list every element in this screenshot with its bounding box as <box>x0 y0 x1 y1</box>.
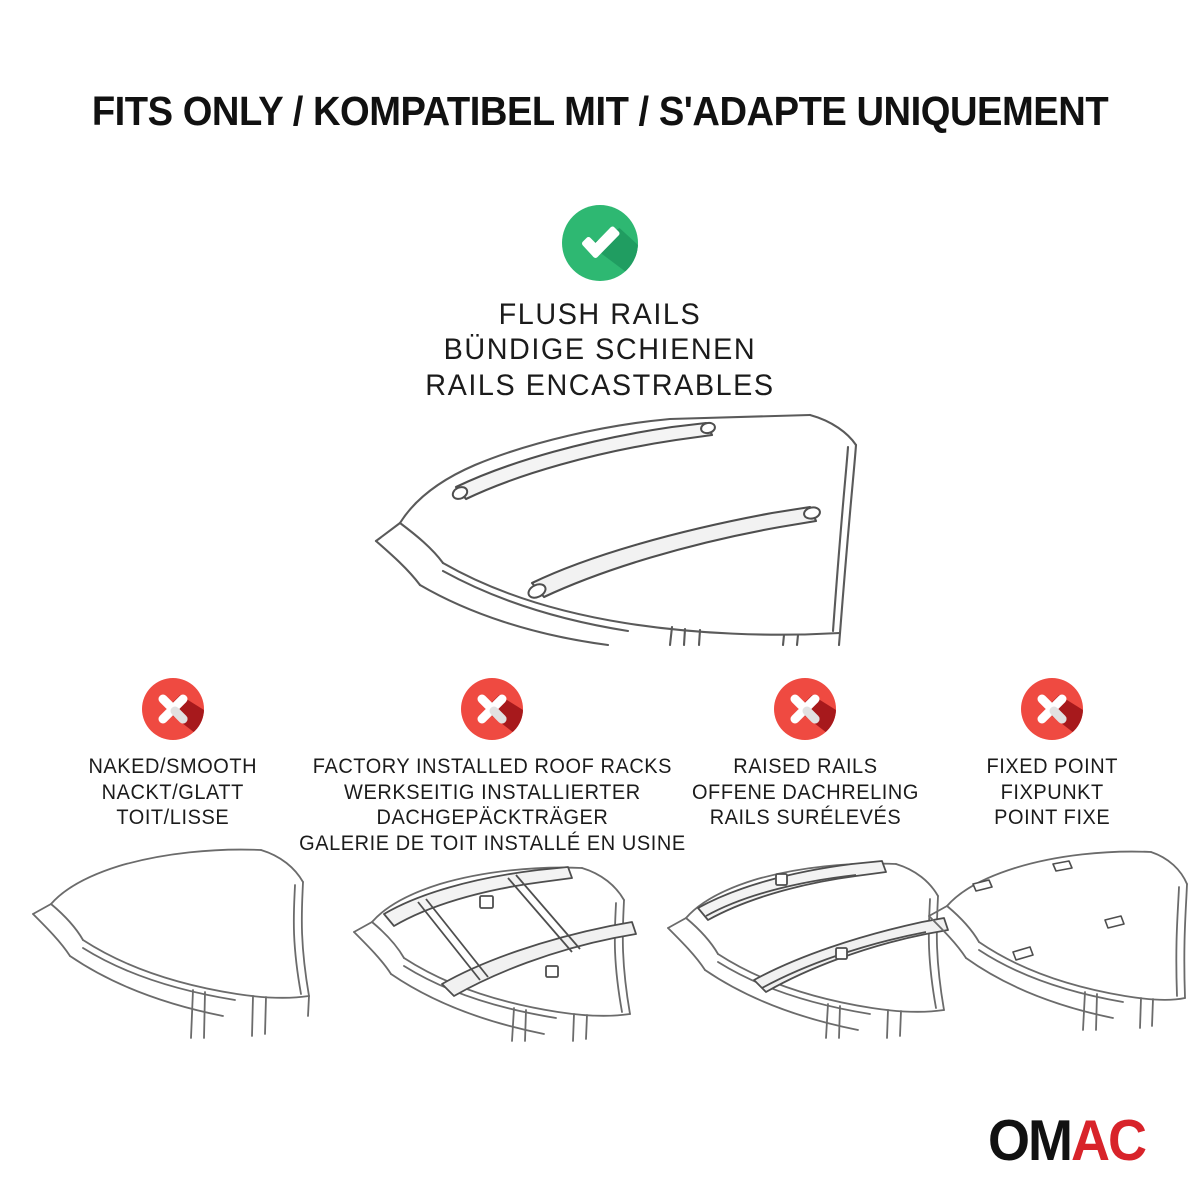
check-circle-icon <box>562 205 638 281</box>
incompatible-section: NAKED/SMOOTH NACKT/GLATT TOIT/LISSE <box>0 678 1200 1078</box>
x-circle-icon <box>1021 678 1083 740</box>
logo-text-om: OM <box>988 1109 1071 1173</box>
x-circle-icon <box>774 678 836 740</box>
label-line-1: WERKSEITIG INSTALLIERTER <box>299 780 686 806</box>
label-line-1: OFFENE DACHRELING <box>692 780 919 806</box>
x-circle-icon <box>142 678 204 740</box>
label-line-1: FIXPUNKT <box>986 780 1118 806</box>
label-line-2: RAILS SURÉLEVÉS <box>692 805 919 831</box>
incompatible-label-raised-rails: RAISED RAILS OFFENE DACHRELING RAILS SUR… <box>692 754 919 831</box>
page-title: FITS ONLY / KOMPATIBEL MIT / S'ADAPTE UN… <box>42 88 1158 135</box>
logo-text-ac: AC <box>1071 1109 1145 1173</box>
car-roof-flush-rails-illustration <box>340 395 860 645</box>
compatible-section: FLUSH RAILS BÜNDIGE SCHIENEN RAILS ENCAS… <box>0 205 1200 403</box>
omac-logo: OMAC <box>988 1112 1145 1169</box>
label-line-0: FACTORY INSTALLED ROOF RACKS <box>299 754 686 780</box>
label-line-2: TOIT/LISSE <box>89 805 258 831</box>
car-roof-factory-racks-illustration <box>332 836 652 1041</box>
compatible-label-line-1: BÜNDIGE SCHIENEN <box>425 332 774 367</box>
car-roof-naked-smooth-illustration <box>23 838 323 1038</box>
car-roof-raised-rails-illustration <box>650 838 960 1038</box>
label-line-0: FIXED POINT <box>986 754 1118 780</box>
label-line-0: RAISED RAILS <box>692 754 919 780</box>
car-roof-fixed-point-illustration <box>917 840 1187 1030</box>
incompatible-label-naked-smooth: NAKED/SMOOTH NACKT/GLATT TOIT/LISSE <box>89 754 258 831</box>
label-line-2: POINT FIXE <box>986 805 1118 831</box>
compatible-label-line-0: FLUSH RAILS <box>425 297 774 332</box>
x-circle-icon <box>461 678 523 740</box>
label-line-1: NACKT/GLATT <box>89 780 258 806</box>
compatible-label: FLUSH RAILS BÜNDIGE SCHIENEN RAILS ENCAS… <box>425 297 774 403</box>
incompatible-label-fixed-point: FIXED POINT FIXPUNKT POINT FIXE <box>986 754 1118 831</box>
infographic-page: FITS ONLY / KOMPATIBEL MIT / S'ADAPTE UN… <box>0 0 1200 1200</box>
incompatible-item-fixed-point: FIXED POINT FIXPUNKT POINT FIXE <box>927 678 1177 831</box>
label-line-2: DACHGEPÄCKTRÄGER <box>299 805 686 831</box>
label-line-0: NAKED/SMOOTH <box>89 754 258 780</box>
